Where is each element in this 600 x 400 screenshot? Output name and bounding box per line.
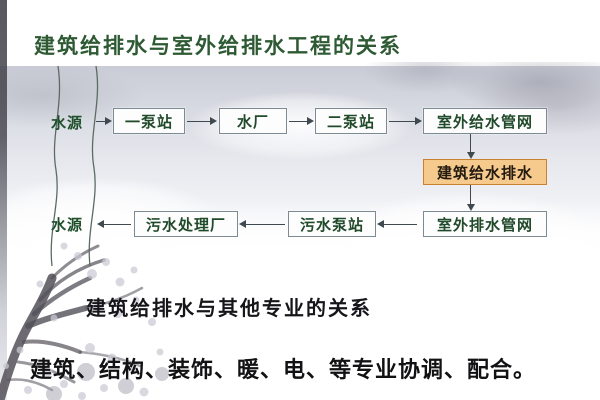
connector-sewagepump-to-treatment [241,224,285,225]
node-source-bottom[interactable]: 水源 [40,211,94,237]
connector-treatment-to-source [101,224,131,225]
connector-supplynet-to-building [470,134,471,153]
arrowhead-supplynet-to-building [467,152,475,159]
arrowhead-treatment-to-source [97,220,104,228]
node-source-top[interactable]: 水源 [40,109,94,135]
relationship-flowchart: 水源 一泵站 水厂 二泵站 室外给水管网 建筑给水排水 室外排水管网 污水泵站 … [0,0,600,400]
node-pump-station-1[interactable]: 一泵站 [113,108,185,134]
arrowhead-pump1-to-plant [210,117,217,125]
slide-canvas: 建筑给排水与室外给排水工程的关系 建筑给排水与其他专业的关系 建筑、结构、装饰、… [0,0,600,400]
connector-pump1-to-plant [187,121,211,122]
node-pump-station-2[interactable]: 二泵站 [315,108,387,134]
node-sewage-treatment[interactable]: 污水处理厂 [134,211,238,237]
node-water-plant[interactable]: 水厂 [219,108,287,134]
arrowhead-source-to-pump1 [105,117,112,125]
arrowhead-building-to-drainnet [467,204,475,211]
node-outdoor-drain-net[interactable]: 室外排水管网 [423,211,547,237]
arrowhead-pump2-to-supplynet [415,117,422,125]
connector-pump2-to-supplynet [389,121,416,122]
connector-plant-to-pump2 [289,121,308,122]
arrowhead-drainnet-to-sewagepump [377,220,384,228]
node-outdoor-supply-net[interactable]: 室外给水管网 [423,108,547,134]
arrowhead-plant-to-pump2 [307,117,314,125]
connector-building-to-drainnet [470,185,471,205]
node-building-plumbing[interactable]: 建筑给水排水 [423,159,547,185]
connector-drainnet-to-sewagepump [379,224,417,225]
node-sewage-pump-station[interactable]: 污水泵站 [288,211,376,237]
arrowhead-sewagepump-to-treatment [239,220,246,228]
